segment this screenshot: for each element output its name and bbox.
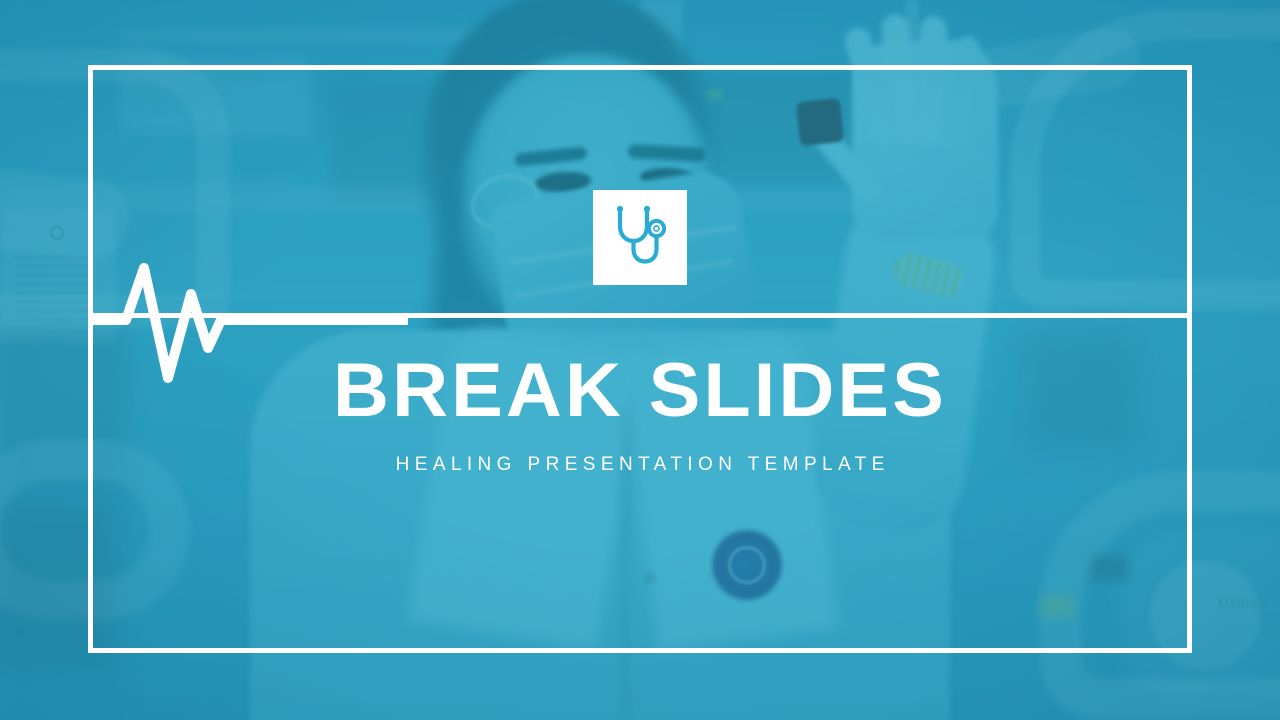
icon-badge	[593, 190, 687, 285]
stethoscope-icon	[612, 204, 668, 271]
page-title: BREAK SLIDES	[0, 353, 1280, 429]
break-slide: Dentso	[0, 0, 1280, 720]
page-subtitle: HEALING PRESENTATION TEMPLATE	[0, 455, 1280, 474]
